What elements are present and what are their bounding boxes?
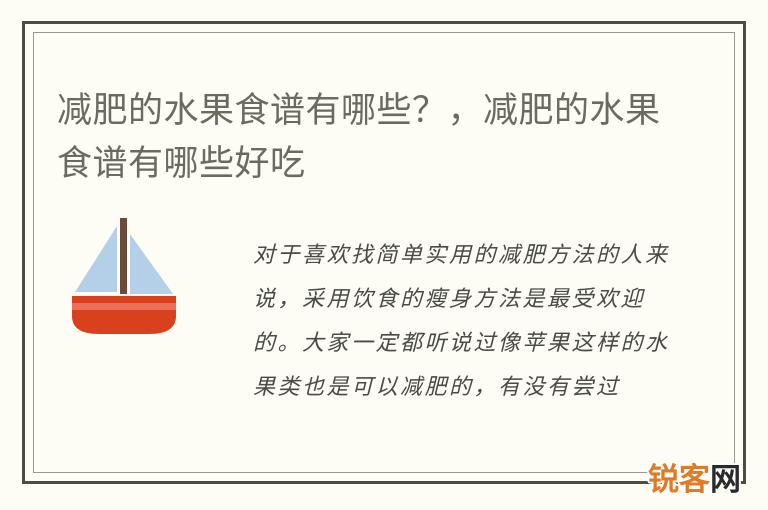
sailboat-left-sail [75,226,117,292]
page-title: 减肥的水果食谱有哪些？，减肥的水果食谱有哪些好吃 [57,84,667,190]
sailboat-graphic [69,216,179,336]
watermark-dark-text: 网 [710,462,741,498]
sailboat-right-sail [130,234,173,294]
watermark-orange-text: 锐客 [648,462,710,498]
page-root: 减肥的水果食谱有哪些？，减肥的水果食谱有哪些好吃 [0,0,768,510]
article-paragraph: 对于喜欢找简单实用的减肥方法的人来说，采用饮食的瘦身方法是最受欢迎的。大家一定都… [253,234,685,410]
sailboat-icon [69,216,179,336]
sailboat-mast [120,218,127,294]
decorative-frame-outer: 减肥的水果食谱有哪些？，减肥的水果食谱有哪些好吃 [22,21,746,484]
site-watermark: 锐客网 [648,463,741,497]
sailboat-hull-stripe [72,303,176,310]
sailboat-hull-top [72,296,176,303]
article-content: 减肥的水果食谱有哪些？，减肥的水果食谱有哪些好吃 [25,24,743,481]
sailboat-hull-bottom [72,310,176,334]
article-body: 对于喜欢找简单实用的减肥方法的人来说，采用饮食的瘦身方法是最受欢迎的。大家一定都… [57,204,717,463]
